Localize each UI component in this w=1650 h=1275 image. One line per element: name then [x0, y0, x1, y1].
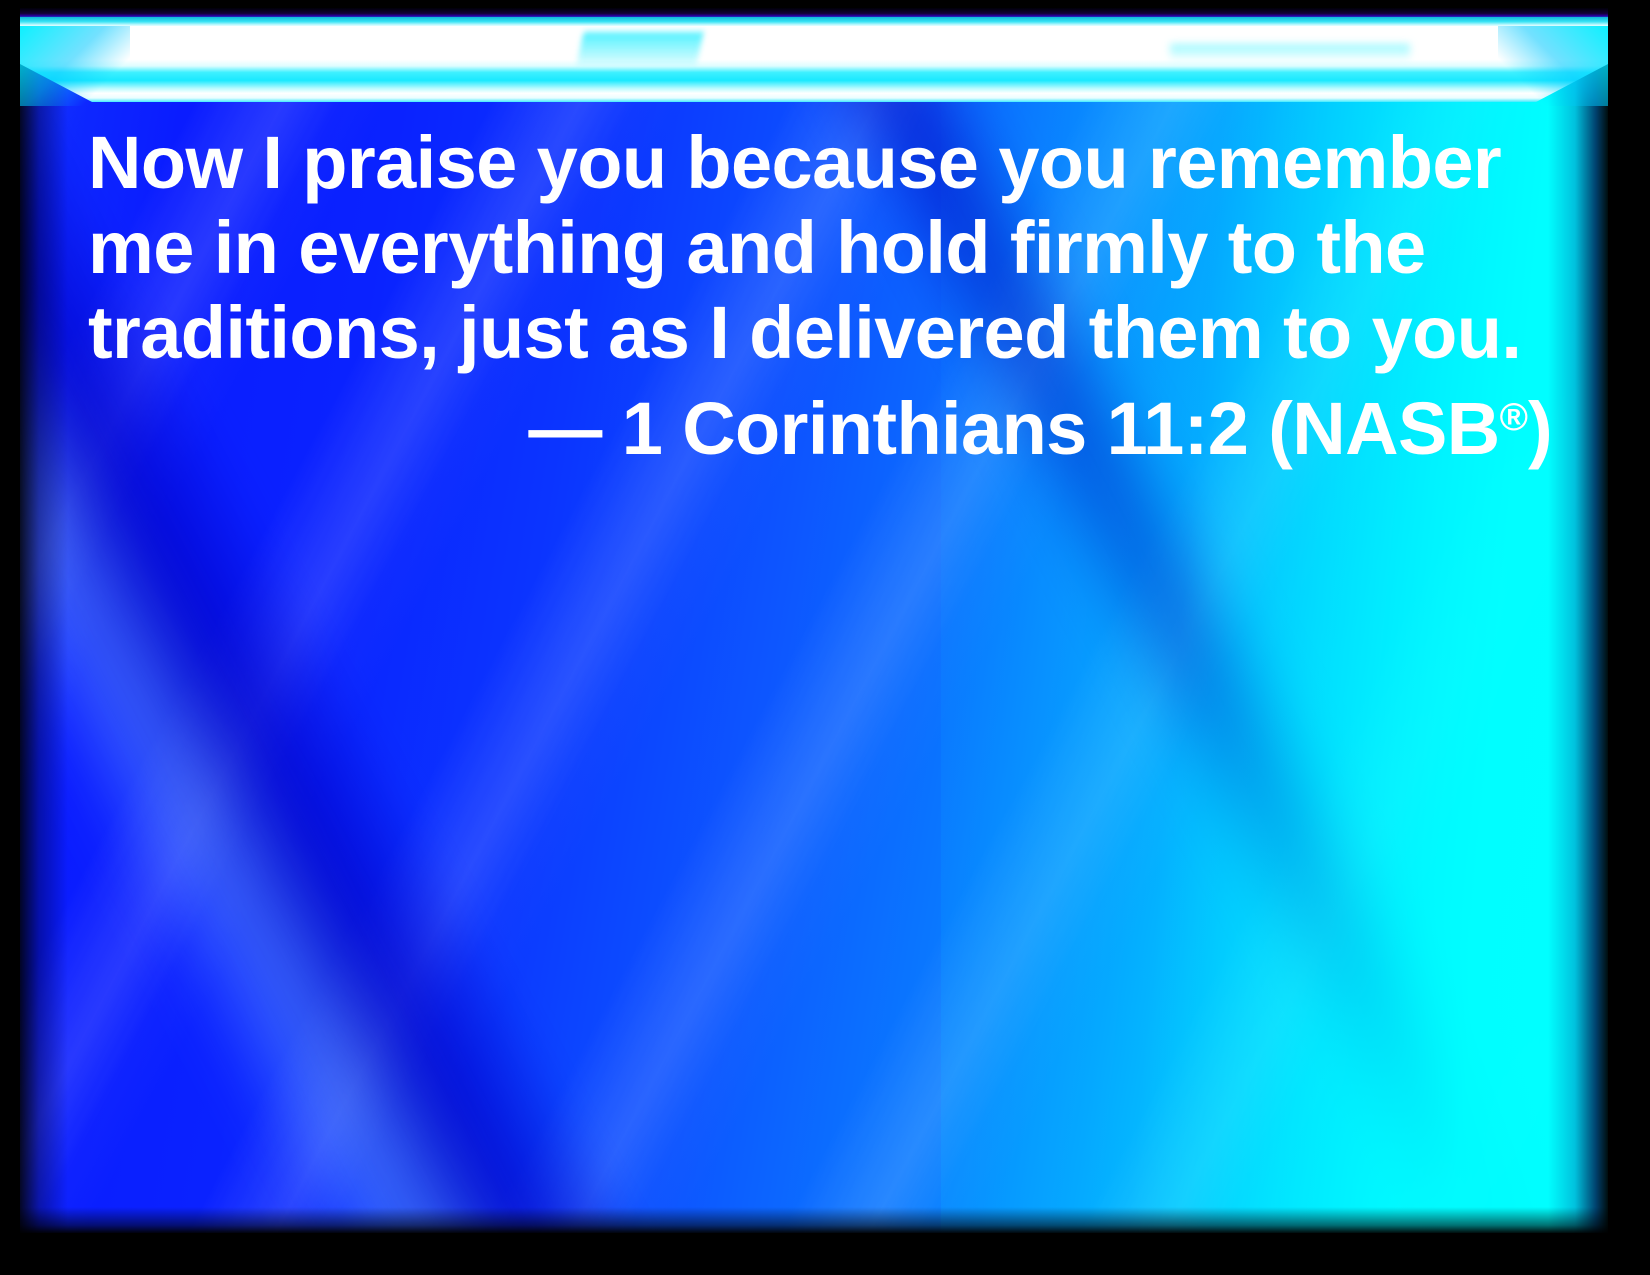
verse-line-2: me in everything and hold firmly to the [88, 205, 1558, 290]
verse-line-1: Now I praise you because you remember [88, 120, 1558, 205]
verse-line-3: traditions, just as I delivered them to … [88, 290, 1558, 375]
banner-body [20, 26, 1608, 106]
verse-slide: Now I praise you because you remember me… [0, 0, 1650, 1275]
frame-border-right [1608, 0, 1650, 1275]
banner-left-wedge [20, 26, 130, 106]
verse-text-block: Now I praise you because you remember me… [88, 120, 1558, 471]
slide-canvas: Now I praise you because you remember me… [20, 8, 1608, 1233]
registered-trademark-icon: ® [1500, 396, 1528, 439]
banner-cyan-rule [20, 17, 1608, 27]
attribution-reference: 1 Corinthians 11:2 (NASB [622, 387, 1500, 470]
verse-attribution: — 1 Corinthians 11:2 (NASB®) [88, 375, 1558, 471]
banner-cyan-wisp [576, 32, 703, 66]
frame-border-top [0, 0, 1650, 8]
background-bottom-edge-fade [20, 1207, 1608, 1233]
attribution-closing-paren: ) [1528, 387, 1552, 470]
background-left-edge-fade [20, 8, 68, 1233]
banner-cyan-wisp-right [1170, 44, 1410, 60]
attribution-em-dash: — [528, 387, 621, 470]
frame-border-left [0, 0, 20, 1275]
top-decorative-banner [20, 8, 1608, 108]
frame-border-bottom [0, 1233, 1650, 1275]
banner-right-wedge [1498, 26, 1608, 106]
